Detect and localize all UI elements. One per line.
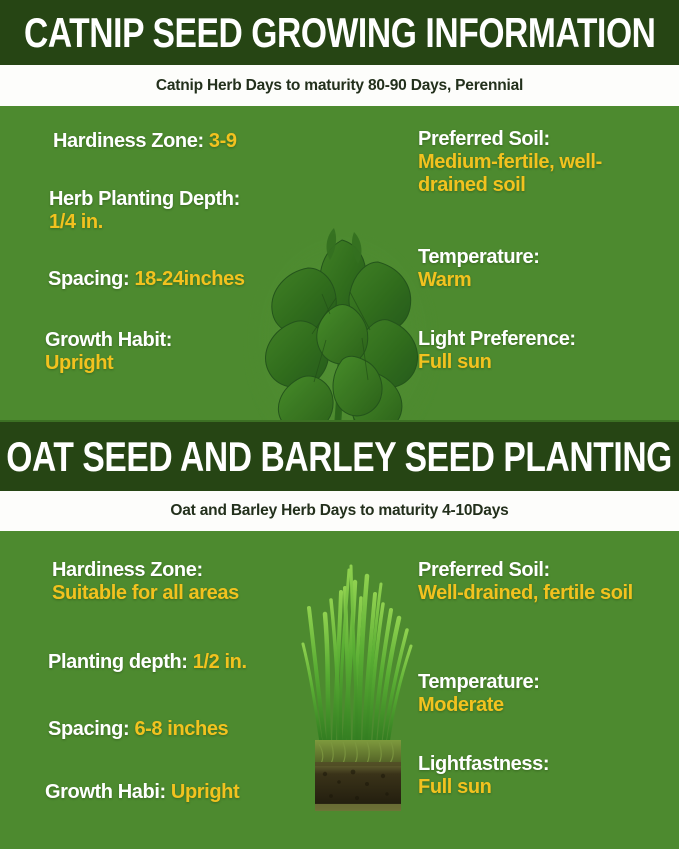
- fact-value: Moderate: [418, 694, 504, 716]
- fact-light-preference: Light Preference: Full sun: [418, 328, 663, 374]
- section-catnip-subtitle: Catnip Herb Days to maturity 80-90 Days,…: [156, 78, 523, 94]
- fact-growth-habit: Growth Habi: Upright: [45, 781, 239, 804]
- fact-label: Light Preference:: [418, 328, 576, 350]
- fact-preferred-soil: Preferred Soil: Well-drained, fertile so…: [418, 559, 663, 605]
- oat-barley-left-column: Hardiness Zone: Suitable for all areas P…: [0, 531, 330, 849]
- section-oat-barley-body: Hardiness Zone: Suitable for all areas P…: [0, 531, 679, 849]
- fact-temperature: Temperature: Warm: [418, 246, 663, 292]
- section-oat-barley-title: OAT SEED AND BARLEY SEED PLANTING: [7, 436, 673, 478]
- section-oat-barley-title-band: OAT SEED AND BARLEY SEED PLANTING: [0, 422, 679, 491]
- fact-growth-habit: Growth Habit: Upright: [45, 329, 320, 375]
- section-oat-barley-subtitle-band: Oat and Barley Herb Days to maturity 4-1…: [0, 491, 679, 531]
- fact-label: Herb Planting Depth:: [49, 188, 240, 210]
- section-oat-barley-subtitle: Oat and Barley Herb Days to maturity 4-1…: [170, 503, 508, 519]
- fact-label: Preferred Soil:: [418, 128, 550, 150]
- fact-value: Full sun: [418, 776, 491, 798]
- fact-value: 6-8 inches: [134, 718, 228, 740]
- fact-label: Spacing:: [48, 718, 129, 740]
- fact-value: Well-drained, fertile soil: [418, 582, 633, 604]
- fact-label: Lightfastness:: [418, 753, 549, 775]
- fact-spacing: Spacing: 18-24inches: [48, 268, 245, 291]
- fact-value: Full sun: [418, 351, 491, 373]
- fact-label: Planting depth:: [48, 651, 188, 673]
- fact-value: Upright: [45, 352, 113, 374]
- fact-value: 18-24inches: [134, 268, 244, 290]
- fact-preferred-soil: Preferred Soil: Medium-fertile, well-dra…: [418, 128, 663, 198]
- fact-planting-depth: Herb Planting Depth: 1/4 in.: [49, 188, 324, 234]
- fact-label: Temperature:: [418, 671, 540, 693]
- fact-hardiness-zone: Hardiness Zone: 3-9: [53, 130, 237, 153]
- fact-planting-depth: Planting depth: 1/2 in.: [48, 651, 247, 674]
- fact-label: Hardiness Zone:: [52, 559, 203, 581]
- fact-lightfastness: Lightfastness: Full sun: [418, 753, 663, 799]
- section-catnip-subtitle-band: Catnip Herb Days to maturity 80-90 Days,…: [0, 65, 679, 106]
- seed-growing-infographic: CATNIP SEED GROWING INFORMATION Catnip H…: [0, 0, 679, 849]
- fact-value: Medium-fertile, well-drained soil: [418, 151, 602, 196]
- oat-barley-right-column: Preferred Soil: Well-drained, fertile so…: [330, 531, 679, 849]
- fact-hardiness-zone: Hardiness Zone: Suitable for all areas: [52, 559, 330, 605]
- fact-value: 1/4 in.: [49, 211, 103, 233]
- catnip-right-column: Preferred Soil: Medium-fertile, well-dra…: [330, 106, 679, 422]
- fact-label: Preferred Soil:: [418, 559, 550, 581]
- section-catnip-body: Hardiness Zone: 3-9 Herb Planting Depth:…: [0, 106, 679, 422]
- fact-value: Suitable for all areas: [52, 582, 239, 604]
- fact-value: 1/2 in.: [193, 651, 247, 673]
- section-divider: [0, 420, 679, 422]
- fact-label: Growth Habi:: [45, 781, 166, 803]
- fact-value: Warm: [418, 269, 471, 291]
- catnip-left-column: Hardiness Zone: 3-9 Herb Planting Depth:…: [0, 106, 330, 422]
- fact-label: Hardiness Zone:: [53, 130, 204, 152]
- fact-value: Upright: [171, 781, 239, 803]
- section-catnip-title-band: CATNIP SEED GROWING INFORMATION: [0, 0, 679, 65]
- fact-label: Spacing:: [48, 268, 129, 290]
- fact-temperature: Temperature: Moderate: [418, 671, 663, 717]
- fact-label: Temperature:: [418, 246, 540, 268]
- fact-spacing: Spacing: 6-8 inches: [48, 718, 228, 741]
- section-catnip-title: CATNIP SEED GROWING INFORMATION: [24, 12, 656, 54]
- fact-value: 3-9: [209, 130, 237, 152]
- fact-label: Growth Habit:: [45, 329, 172, 351]
